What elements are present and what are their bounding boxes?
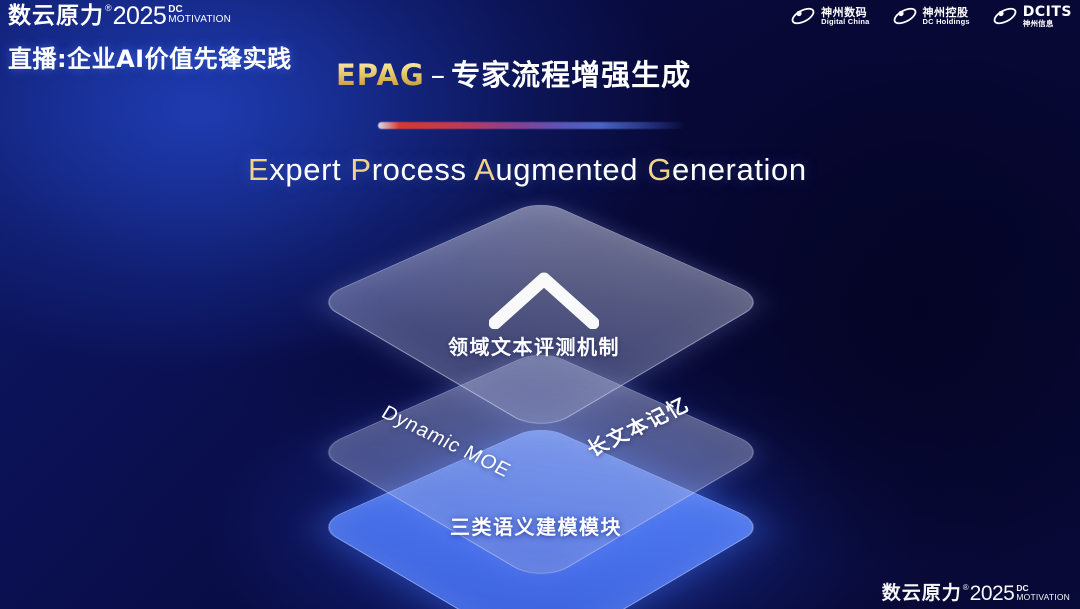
watermark-motivation-text: MOTIVATION: [1016, 593, 1070, 602]
diagram-layer-bottom-wrap: [0, 365, 1080, 609]
partner-label: 神州数码 Digital China: [821, 7, 869, 26]
brand-logo: 数云原力 ® 2025 DC MOTIVATION: [8, 2, 338, 32]
diagram-layer-bottom: [315, 425, 768, 609]
diagram-label-bottom: 三类语义建模模块: [450, 511, 622, 540]
diagram-label-long-memory: 长文本记忆: [580, 389, 694, 462]
page-title: EPAG–专家流程增强生成: [336, 52, 691, 94]
partner-label: 神州控股 DC Holdings: [923, 7, 970, 26]
brand-dc-motivation: DC MOTIVATION: [168, 2, 231, 25]
title-dash: –: [431, 58, 446, 92]
watermark-year: 2025: [970, 582, 1015, 605]
swoosh-icon: [892, 5, 918, 27]
subtitle-rest-process: rocess: [372, 152, 467, 187]
watermark-dc-motivation: DC MOTIVATION: [1016, 582, 1070, 601]
live-stream-headline: 直播:企业AI价值先锋实践: [8, 39, 338, 74]
background-glow-bottom: [210, 360, 910, 609]
registered-mark-icon: ®: [105, 2, 112, 15]
diagram-layer-middle: [315, 350, 768, 584]
partner-logo-dc-holdings: 神州控股 DC Holdings: [892, 5, 970, 27]
subtitle-cap-g: G: [647, 152, 672, 187]
partner-name-en: 神州信息: [1023, 20, 1072, 28]
partner-name-cn: DCITS: [1023, 5, 1072, 20]
swoosh-icon: [992, 5, 1018, 27]
title-divider: [378, 122, 686, 129]
title-chinese: 专家流程增强生成: [451, 58, 691, 92]
diagram-label-dynamic-moe: Dynamic MOE: [377, 402, 515, 483]
subtitle-rest-generation: eneration: [672, 152, 807, 187]
subtitle-cap-a: A: [474, 152, 495, 187]
watermark-logo: 数云原力 ® 2025 DC MOTIVATION: [882, 582, 1070, 605]
watermark-name-cn: 数云原力: [882, 582, 962, 605]
subtitle-cap-p: P: [350, 152, 371, 187]
brand-year: 2025: [113, 2, 167, 30]
partner-label: DCITS 神州信息: [1023, 5, 1072, 28]
subtitle-rest-augmented: ugmented: [495, 152, 638, 187]
partner-name-en: DC Holdings: [923, 18, 970, 26]
diagram-layer-middle-wrap: [0, 290, 1080, 590]
watermark-registered-mark-icon: ®: [963, 582, 969, 593]
partner-logo-digital-china: 神州数码 Digital China: [790, 5, 869, 27]
diagram-layer-top: [315, 200, 768, 434]
partner-logo-dcits: DCITS 神州信息: [992, 5, 1072, 28]
partner-logo-bar: 神州数码 Digital China 神州控股 DC Holdings DCIT…: [790, 5, 1072, 28]
brand-motivation-text: MOTIVATION: [168, 15, 231, 25]
slide-canvas: 数云原力 ® 2025 DC MOTIVATION 直播:企业AI价值先锋实践 …: [0, 0, 1080, 609]
title-acronym: EPAG: [336, 58, 425, 92]
partner-name-en: Digital China: [821, 18, 869, 26]
subtitle-rest-expert: xpert: [269, 152, 341, 187]
subtitle-cap-e: E: [248, 152, 269, 187]
swoosh-icon: [790, 5, 816, 27]
background-shade-right: [680, 60, 1080, 560]
brand-block: 数云原力 ® 2025 DC MOTIVATION 直播:企业AI价值先锋实践: [8, 2, 338, 74]
page-subtitle: Expert Process Augmented Generation: [248, 152, 807, 188]
brand-name-cn: 数云原力: [8, 2, 104, 30]
chevron-up-icon: [489, 271, 599, 329]
diagram-label-top: 领域文本评测机制: [448, 331, 620, 360]
